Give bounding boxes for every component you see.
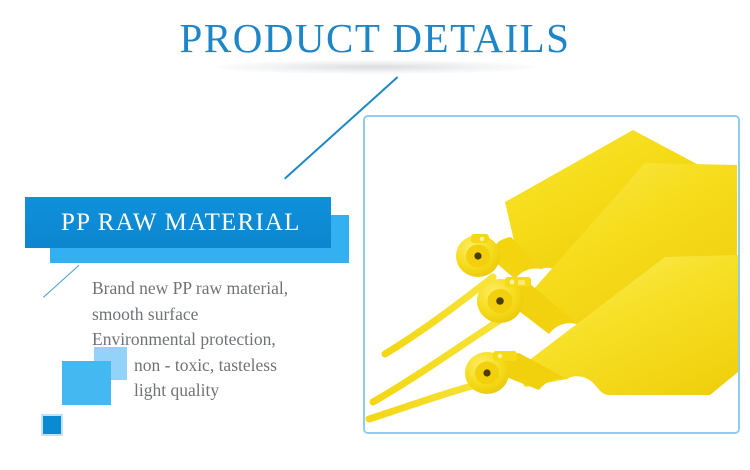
product-details-banner: PRODUCT DETAILS PP RAW MATERIAL Brand ne… [0, 0, 750, 470]
page-title: PRODUCT DETAILS [0, 14, 750, 62]
section-description: Brand new PP raw material, smooth surfac… [92, 276, 352, 404]
description-line: smooth surface [92, 302, 352, 328]
description-line: light quality [92, 378, 352, 404]
diagonal-accent-line-short [43, 265, 80, 298]
section-heading-label: PP RAW MATERIAL [25, 209, 301, 237]
description-line: Environmental protection, [92, 327, 352, 353]
banner-bar: PP RAW MATERIAL [25, 197, 331, 248]
description-line: non - toxic, tasteless [92, 353, 352, 379]
description-line: Brand new PP raw material, [92, 276, 352, 302]
title-reflection-shadow [215, 60, 535, 74]
yellow-security-seals-illustration [365, 117, 738, 432]
product-image-panel [363, 115, 740, 434]
product-image [365, 117, 738, 432]
section-heading-banner: PP RAW MATERIAL [25, 197, 349, 263]
decorative-square-dark [41, 414, 63, 436]
